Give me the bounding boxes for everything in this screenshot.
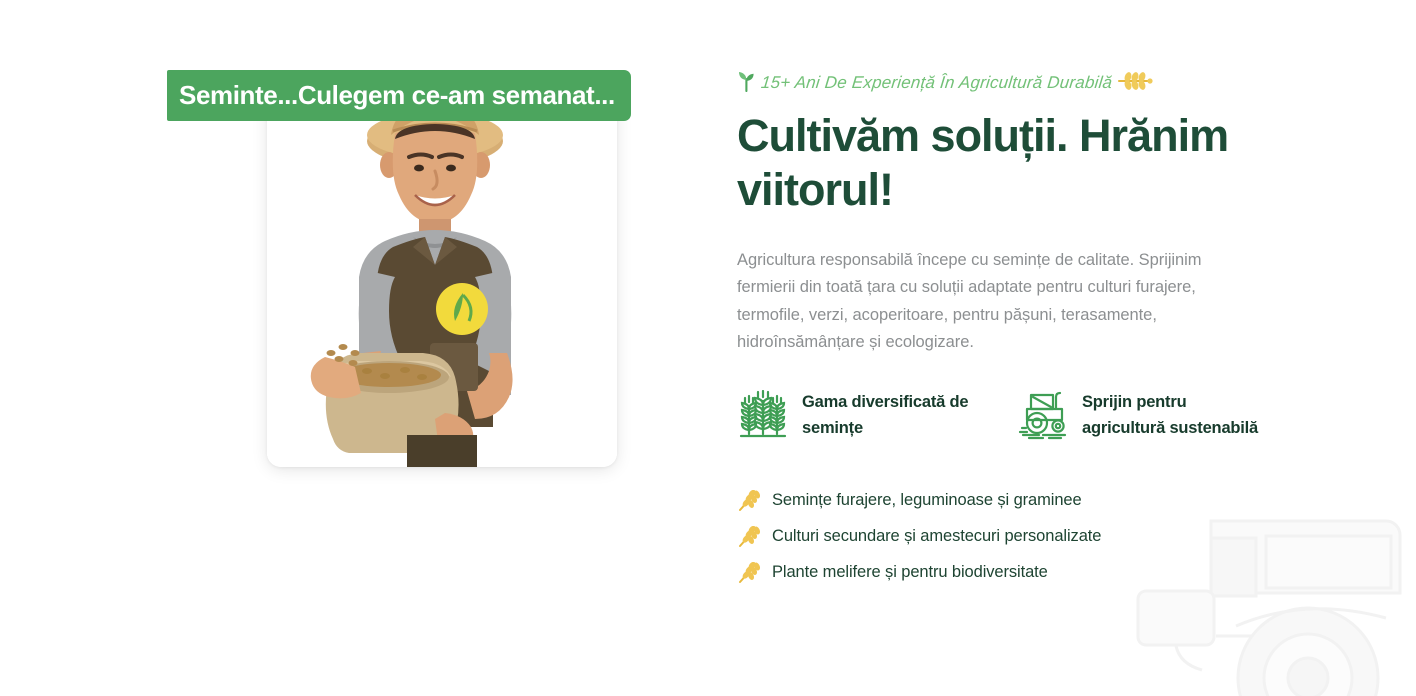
wheat-stalk-icon [1117,72,1153,95]
list-item: Semințe furajere, leguminoase și gramine… [737,483,1297,519]
wheat-spike-icon [737,490,760,512]
tractor-icon [1017,390,1069,440]
list-item: Culturi secundare și amestecuri personal… [737,519,1297,555]
page-title: Cultivăm soluții. Hrănim viitorul! [737,109,1277,217]
seed-slogan-ribbon: Seminte...Culegem ce-am semanat... [167,70,631,121]
hero-visual-column: Seminte...Culegem ce-am semanat... [167,70,687,121]
seed-offer-list: Semințe furajere, leguminoase și gramine… [737,483,1297,591]
hero-section: Seminte...Culegem ce-am semanat... 15+ A… [0,0,1416,696]
hero-description: Agricultura responsabilă începe cu semin… [737,247,1237,357]
experience-eyebrow: 15+ Ani De Experiență În Agricultură Dur… [737,68,1297,98]
hero-content-column: 15+ Ani De Experiență În Agricultură Dur… [737,68,1297,591]
farmer-with-seed-sack-photo [267,95,617,467]
feature-item-seeds: Gama diversificată de semințe [737,389,1017,441]
feature-label-seeds: Gama diversificată de semințe [802,389,992,441]
list-item-label: Semințe furajere, leguminoase și gramine… [772,491,1082,510]
list-item-label: Plante melifere și pentru biodiversitate [772,563,1048,582]
list-item: Plante melifere și pentru biodiversitate [737,555,1297,591]
feature-item-support: Sprijin pentru agricultură sustenabilă [1017,389,1297,441]
wheat-spike-icon [737,526,760,548]
feature-highlights: Gama diversificată de semințe [737,389,1297,441]
feature-label-support: Sprijin pentru agricultură sustenabilă [1082,389,1272,441]
farmer-photo-card [267,95,617,467]
experience-eyebrow-text: 15+ Ani De Experiență În Agricultură Dur… [760,73,1113,93]
sprout-icon [737,70,756,97]
wheat-spike-icon [737,562,760,584]
list-item-label: Culturi secundare și amestecuri personal… [772,527,1101,546]
wheat-field-icon [737,390,789,440]
